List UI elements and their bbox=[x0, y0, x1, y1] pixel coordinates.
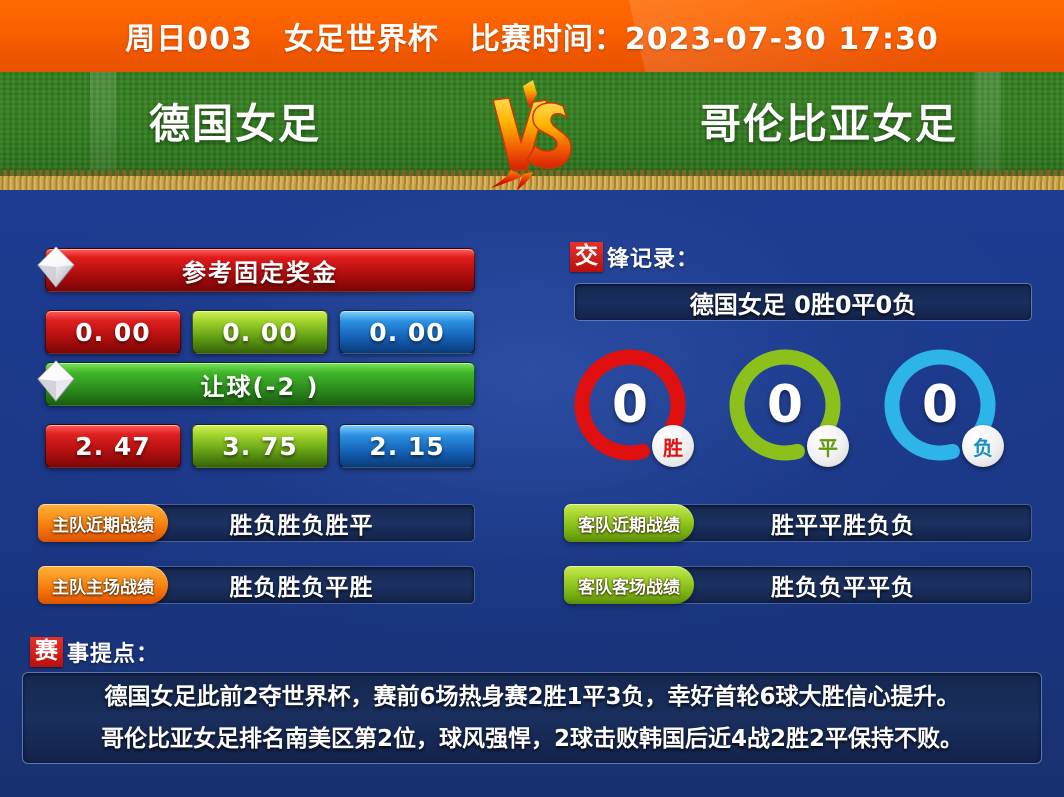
handicap-title-bar: 让球(-2 ) bbox=[45, 362, 475, 406]
h2h-win-badge: 胜 bbox=[652, 425, 694, 467]
h2h-ring-draw: 0 平 bbox=[725, 345, 845, 465]
fixed-prize-title-text: 参考固定奖金 bbox=[182, 253, 338, 288]
home-team-name: 德国女足 bbox=[0, 96, 470, 152]
fixed-prize-odds-away[interactable]: 0. 00 bbox=[339, 310, 475, 354]
versus-icon bbox=[477, 78, 587, 190]
h2h-summary-bar: 德国女足 0胜0平0负 bbox=[574, 283, 1032, 321]
home-recent-form-value: 胜负胜负胜平 bbox=[128, 504, 475, 542]
away-team-name: 哥伦比亚女足 bbox=[594, 96, 1064, 152]
h2h-label-badge: 交 bbox=[570, 242, 603, 272]
handicap-odds-home[interactable]: 2. 47 bbox=[45, 424, 181, 468]
analysis-label-text: 事提点： bbox=[67, 636, 159, 668]
h2h-ring-lose: 0 负 bbox=[880, 345, 1000, 465]
home-home-form-label: 主队主场战绩 bbox=[38, 566, 168, 604]
handicap-odds-draw[interactable]: 3. 75 bbox=[192, 424, 328, 468]
home-home-form-value: 胜负胜负平胜 bbox=[128, 566, 475, 604]
away-recent-form-label: 客队近期战绩 bbox=[564, 504, 694, 542]
analysis-section-label: 赛 事提点： bbox=[30, 636, 159, 668]
handicap-odds-away[interactable]: 2. 15 bbox=[339, 424, 475, 468]
analysis-line: 哥伦比亚女足排名南美区第2位，球风强悍，2球击败韩国后近4战2胜2平保持不败。 bbox=[101, 718, 963, 760]
fixed-prize-odds-draw[interactable]: 0. 00 bbox=[192, 310, 328, 354]
analysis-text-box: 德国女足此前2夺世界杯，赛前6场热身赛2胜1平3负，幸好首轮6球大胜信心提升。 … bbox=[22, 672, 1042, 764]
h2h-draw-badge: 平 bbox=[807, 425, 849, 467]
h2h-label-text: 锋记录： bbox=[607, 241, 699, 273]
analysis-label-badge: 赛 bbox=[30, 637, 63, 667]
match-header-bar: 周日003 女足世界杯 比赛时间：2023-07-30 17:30 bbox=[0, 0, 1064, 72]
h2h-section-label: 交 锋记录： bbox=[570, 241, 699, 273]
away-recent-form-value: 胜平平胜负负 bbox=[654, 504, 1032, 542]
h2h-lose-badge: 负 bbox=[962, 425, 1004, 467]
analysis-line: 德国女足此前2夺世界杯，赛前6场热身赛2胜1平3负，幸好首轮6球大胜信心提升。 bbox=[104, 676, 959, 718]
fixed-prize-title-bar: 参考固定奖金 bbox=[45, 248, 475, 292]
handicap-title-text: 让球(-2 ) bbox=[201, 367, 320, 402]
h2h-ring-win: 0 胜 bbox=[570, 345, 690, 465]
fixed-prize-odds-home[interactable]: 0. 00 bbox=[45, 310, 181, 354]
away-away-form-value: 胜负负平平负 bbox=[654, 566, 1032, 604]
away-away-form-label: 客队客场战绩 bbox=[564, 566, 694, 604]
home-recent-form-label: 主队近期战绩 bbox=[38, 504, 168, 542]
page-title: 周日003 女足世界杯 比赛时间：2023-07-30 17:30 bbox=[125, 14, 938, 58]
